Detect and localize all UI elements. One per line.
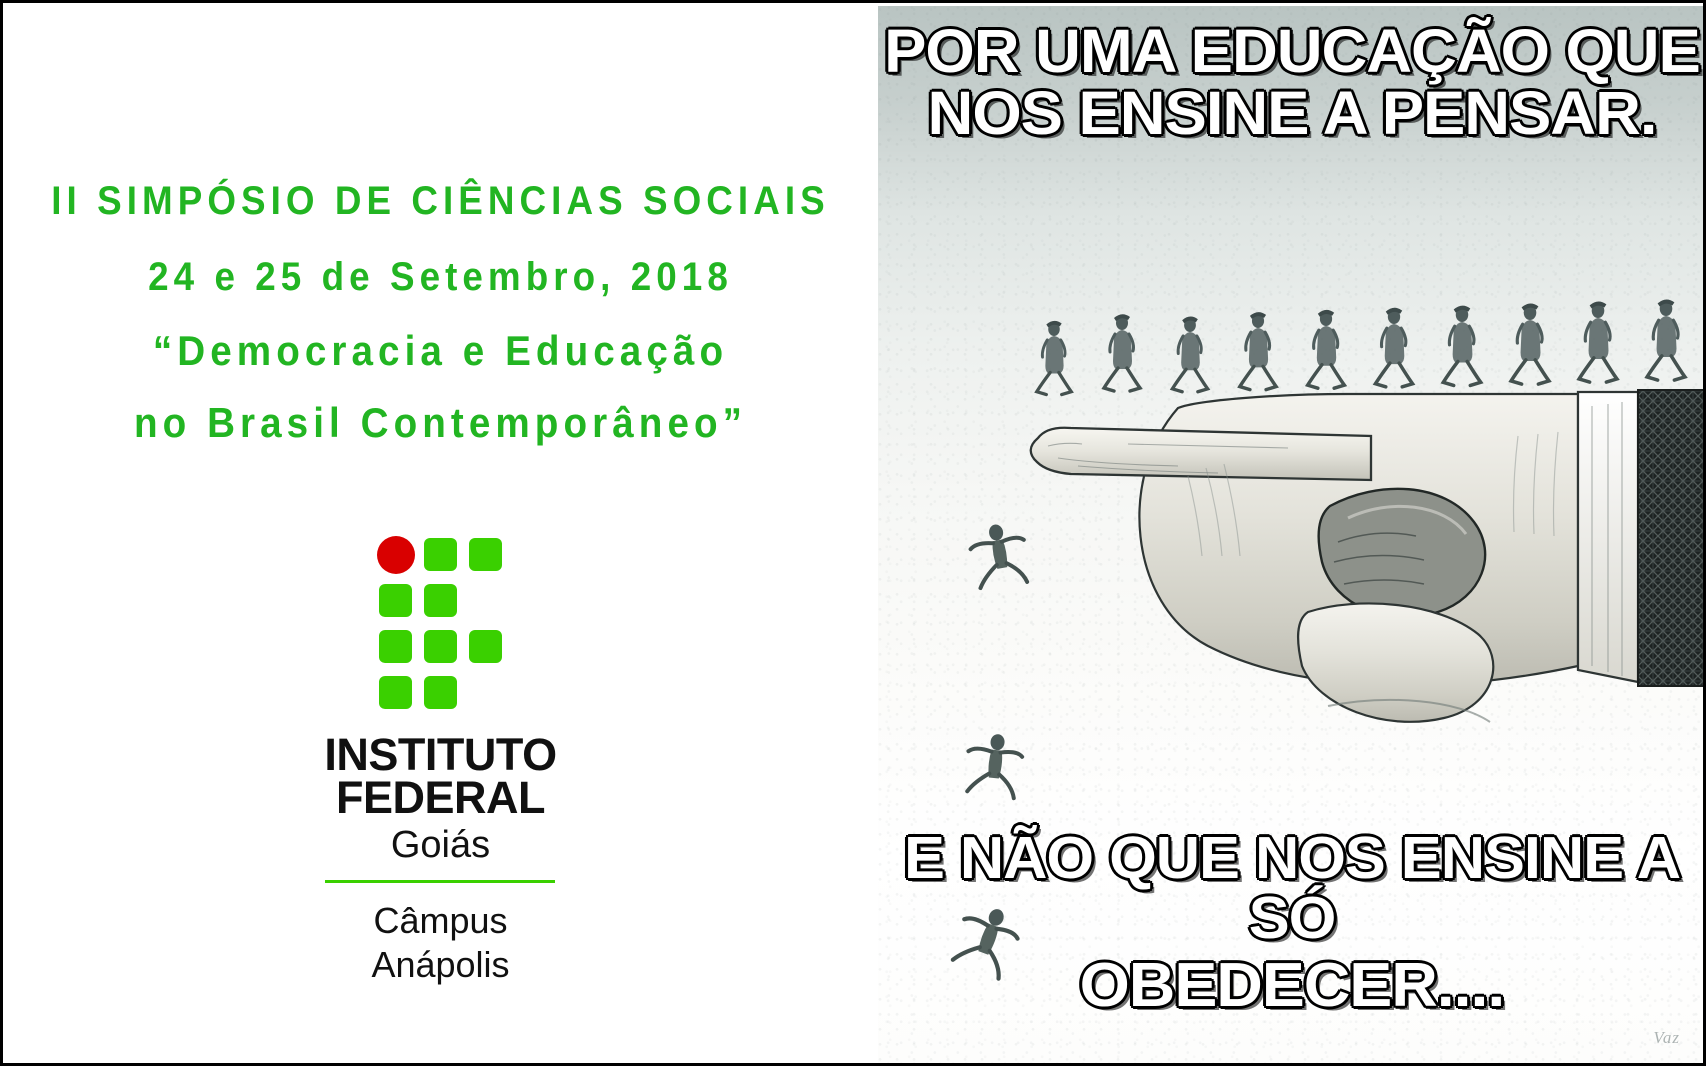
meme-bottom-line-1: E NÃO QUE NOS ENSINE A SÓ (878, 828, 1706, 948)
event-theme-line-2: no Brasil Contemporâneo” (38, 387, 843, 459)
event-dates-line: 24 e 25 de Setembro, 2018 (38, 239, 843, 315)
logo-wordmark: INSTITUTO FEDERAL Goiás Câmpus Anápolis (324, 732, 556, 987)
meme-top-line-1: POR UMA EDUCAÇÃO QUE (878, 20, 1706, 82)
hand-drawing (1031, 390, 1706, 722)
logo-square (379, 676, 412, 709)
logo-word-federal: FEDERAL (324, 775, 556, 820)
logo-square (469, 538, 502, 571)
artist-signature: Vaz (1653, 1028, 1680, 1048)
logo-square (379, 630, 412, 663)
meme-bottom-line-2: OBEDECER.... (878, 954, 1706, 1017)
logo-square (379, 584, 412, 617)
event-theme-line-1: “Democracia e Educação (38, 315, 843, 387)
logo-campus-label: Câmpus (373, 900, 507, 941)
logo-word-state: Goiás (324, 826, 556, 864)
logo-grid-icon (379, 538, 502, 710)
logo-red-dot-icon (377, 536, 415, 574)
logo-square (424, 538, 457, 571)
presentation-slide: II SIMPÓSIO DE CIÊNCIAS SOCIAIS 24 e 25 … (0, 0, 1706, 1066)
instituto-federal-logo: INSTITUTO FEDERAL Goiás Câmpus Anápolis (3, 538, 878, 987)
logo-square (424, 630, 457, 663)
logo-square (424, 584, 457, 617)
logo-campus-name: Anápolis (371, 944, 509, 985)
meme-bottom-caption: E NÃO QUE NOS ENSINE A SÓ OBEDECER.... (878, 828, 1706, 1018)
event-title-line: II SIMPÓSIO DE CIÊNCIAS SOCIAIS (38, 163, 843, 239)
event-heading-block: II SIMPÓSIO DE CIÊNCIAS SOCIAIS 24 e 25 … (3, 163, 878, 459)
meme-top-caption: POR UMA EDUCAÇÃO QUE NOS ENSINE A PENSAR… (878, 20, 1706, 144)
logo-divider-rule (325, 880, 555, 883)
meme-top-line-2: NOS ENSINE A PENSAR. (878, 82, 1706, 144)
walking-people-row (1037, 299, 1685, 394)
meme-image: POR UMA EDUCAÇÃO QUE NOS ENSINE A PENSAR… (878, 6, 1706, 1066)
logo-square (424, 676, 457, 709)
left-panel: II SIMPÓSIO DE CIÊNCIAS SOCIAIS 24 e 25 … (3, 3, 878, 1063)
logo-campus: Câmpus Anápolis (324, 899, 556, 987)
logo-square (469, 630, 502, 663)
logo-word-instituto: INSTITUTO (324, 732, 556, 777)
